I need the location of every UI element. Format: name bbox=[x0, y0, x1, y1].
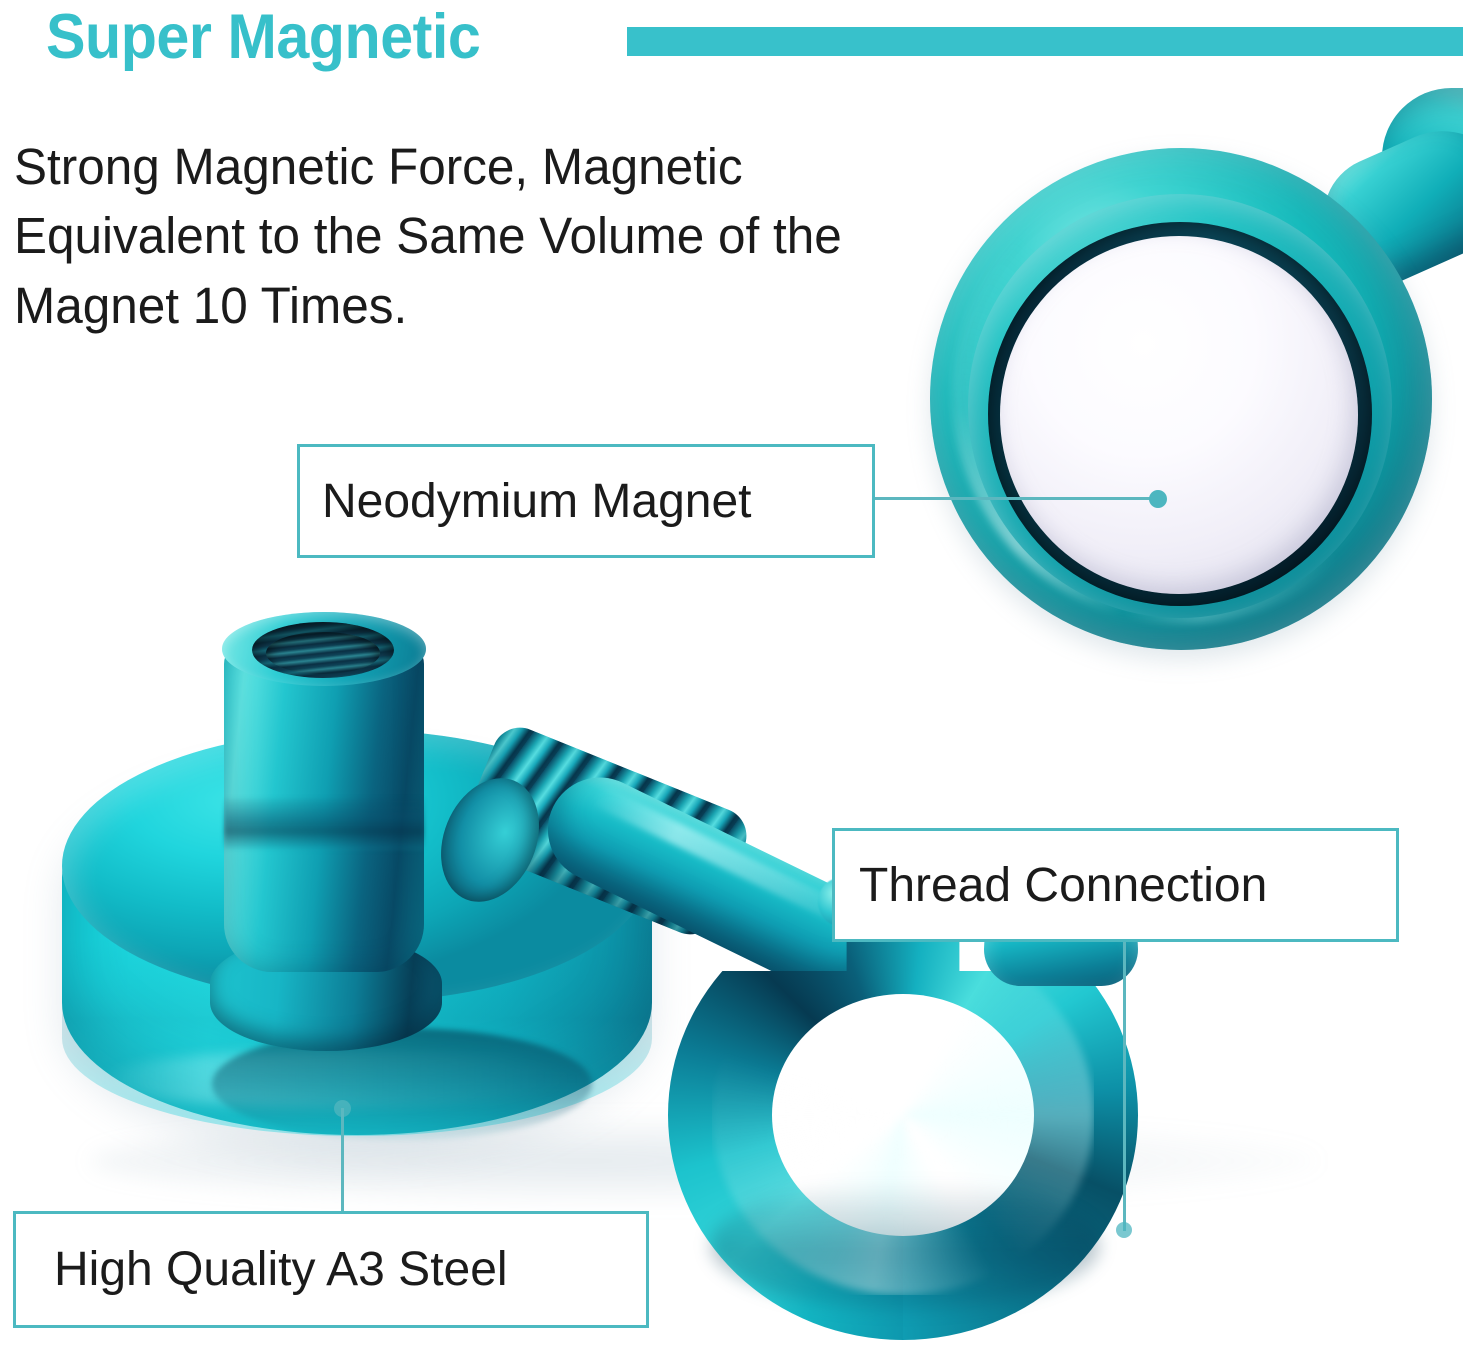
callout-neodymium-magnet: Neodymium Magnet bbox=[297, 444, 875, 558]
leader-line-neodymium-magnet bbox=[872, 497, 1160, 500]
callout-thread-connection-label: Thread Connection bbox=[835, 858, 1396, 913]
callout-high-quality-a3-steel: High Quality A3 Steel bbox=[13, 1211, 649, 1328]
internal-thread-ridges bbox=[266, 632, 380, 674]
title-accent-bar bbox=[627, 27, 1463, 56]
callout-thread-connection: Thread Connection bbox=[832, 828, 1399, 942]
threaded-boss-shading bbox=[224, 798, 424, 850]
description-text: Strong Magnetic Force, Magnetic Equivale… bbox=[14, 132, 921, 340]
hook-u-shadow bbox=[710, 1180, 1100, 1310]
leader-dot-a3-steel bbox=[334, 1100, 351, 1117]
callout-neodymium-magnet-label: Neodymium Magnet bbox=[300, 474, 872, 529]
neodymium-magnet-disc bbox=[1000, 236, 1358, 594]
callout-high-quality-a3-steel-label: High Quality A3 Steel bbox=[16, 1242, 646, 1297]
leader-dot-neodymium-magnet bbox=[1149, 490, 1167, 508]
leader-line-a3-steel bbox=[341, 1108, 344, 1214]
page-title: Super Magnetic bbox=[46, 6, 480, 69]
infographic-page: Super Magnetic Strong Magnetic Force, Ma… bbox=[0, 0, 1463, 1349]
leader-dot-thread-connection bbox=[1116, 1222, 1132, 1238]
leader-line-thread-connection bbox=[1123, 941, 1126, 1231]
